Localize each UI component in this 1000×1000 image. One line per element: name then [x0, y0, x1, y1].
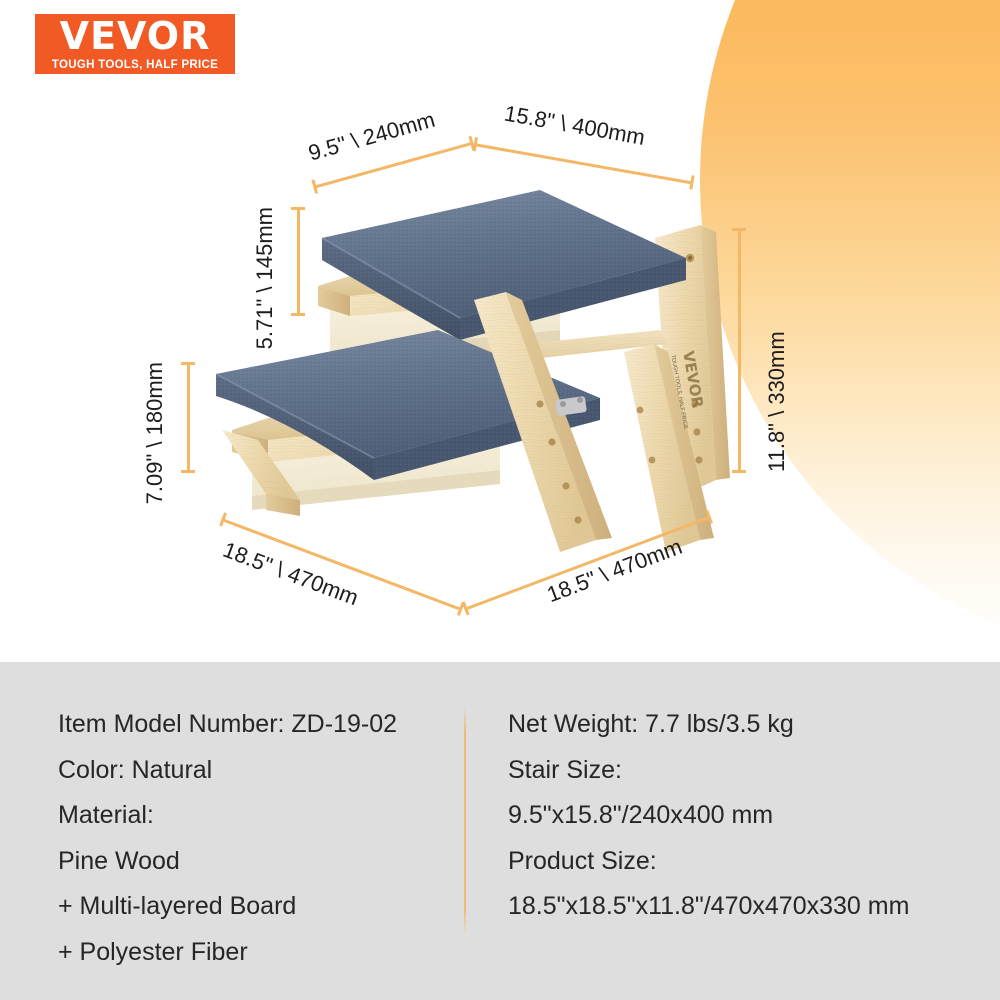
dimension-label-step-rise: 5.71" \ 145mm [252, 207, 278, 349]
spec-item: Stair Size: [508, 748, 978, 794]
spec-item: Item Model Number: ZD-19-02 [58, 702, 448, 748]
dimension-label-lower-height: 7.09" \ 180mm [142, 362, 168, 504]
hero-panel: VEVOR TOUGH TOOLS, HALF PRICE TOUGH TOOL… [0, 0, 1000, 662]
product-illustration: VEVOR TOUGH TOOLS, HALF PRICE TOUGH TOOL… [0, 0, 1000, 662]
vevor-logo: VEVOR TOUGH TOOLS, HALF PRICE [35, 14, 235, 74]
logo-tagline: TOUGH TOOLS, HALF PRICE [52, 60, 218, 72]
product-spec-page: VEVOR TOUGH TOOLS, HALF PRICE TOUGH TOOL… [0, 0, 1000, 1000]
spec-item: Color: Natural [58, 748, 448, 794]
spec-item: + Polyester Fiber [58, 930, 448, 976]
spec-item: Pine Wood [58, 839, 448, 885]
logo-wordmark: VEVOR [60, 17, 211, 55]
spec-column-divider [464, 706, 466, 936]
dimension-label-total-height: 11.8" \ 330mm [764, 331, 790, 472]
spec-item: 18.5"x18.5"x11.8"/470x470x330 mm [508, 884, 978, 930]
spec-column-left: Item Model Number: ZD-19-02 Color: Natur… [58, 702, 448, 975]
spec-item: Product Size: [508, 839, 978, 885]
spec-item: Material: [58, 793, 448, 839]
spec-column-right: Net Weight: 7.7 lbs/3.5 kg Stair Size: 9… [508, 702, 978, 930]
spec-item: 9.5"x15.8"/240x400 mm [508, 793, 978, 839]
spec-item: Net Weight: 7.7 lbs/3.5 kg [508, 702, 978, 748]
spec-item: + Multi-layered Board [58, 884, 448, 930]
